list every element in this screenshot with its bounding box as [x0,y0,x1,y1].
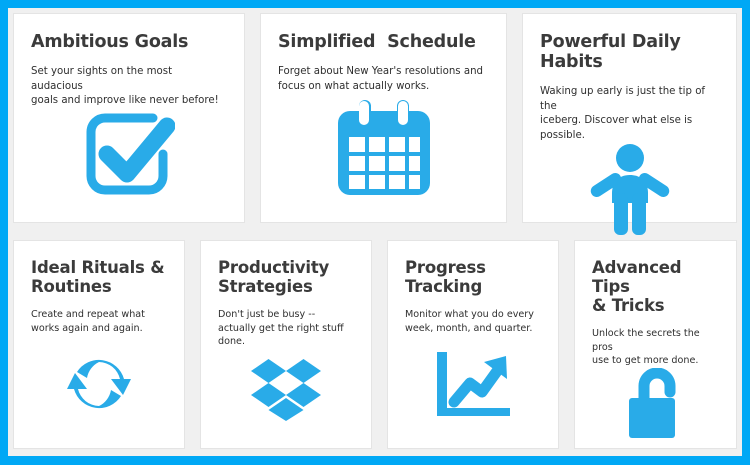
cards-row-bottom: Ideal Rituals & Routines Create and repe… [13,240,737,449]
card-icon-wrap [592,368,719,446]
card-description: Monitor what you do every week, month, a… [405,308,541,335]
infographic-poster: Ambitious Goals Set your sights on the m… [0,0,750,465]
cards-board: Ambitious Goals Set your sights on the m… [8,8,742,456]
card-icon-wrap [278,94,489,212]
card-advanced-tips-tricks[interactable]: Advanced Tips & Tricks Unlock the secret… [574,240,737,449]
card-description: Forget about New Year's resolutions and … [278,65,489,94]
card-title: Productivity Strategies [218,259,354,297]
card-title: Ideal Rituals & Routines [31,259,167,297]
card-icon-wrap [31,335,167,438]
calendar-icon [336,97,432,197]
dropbox-diamonds-icon [251,359,321,421]
growth-chart-arrow-icon [434,350,512,418]
card-title: Ambitious Goals [31,32,227,52]
card-title: Simplified Schedule [278,32,489,52]
card-ideal-rituals-routines[interactable]: Ideal Rituals & Routines Create and repe… [13,240,185,449]
refresh-cycle-icon [67,352,131,416]
card-description: Unlock the secrets the pros use to get m… [592,327,719,368]
card-description: Set your sights on the most audacious go… [31,65,227,108]
person-arms-raised-icon [588,143,672,237]
card-powerful-daily-habits[interactable]: Powerful Daily Habits Waking up early is… [522,13,737,223]
card-description: Don't just be busy -- actually get the r… [218,308,354,349]
card-simplified-schedule[interactable]: Simplified Schedule Forget about New Yea… [260,13,507,223]
card-description: Create and repeat what works again and a… [31,308,167,335]
card-ambitious-goals[interactable]: Ambitious Goals Set your sights on the m… [13,13,245,223]
card-description: Waking up early is just the tip of the i… [540,85,719,143]
card-productivity-strategies[interactable]: Productivity Strategies Don't just be bu… [200,240,372,449]
card-icon-wrap [218,349,354,438]
checkbox-check-icon [83,110,175,198]
card-title: Advanced Tips & Tricks [592,259,719,316]
card-icon-wrap [540,143,719,249]
card-title: Progress Tracking [405,259,541,297]
card-title: Powerful Daily Habits [540,32,719,72]
card-progress-tracking[interactable]: Progress Tracking Monitor what you do ev… [387,240,559,449]
open-padlock-icon [625,368,687,440]
card-icon-wrap [405,335,541,438]
card-icon-wrap [31,109,227,212]
cards-row-top: Ambitious Goals Set your sights on the m… [13,13,737,223]
